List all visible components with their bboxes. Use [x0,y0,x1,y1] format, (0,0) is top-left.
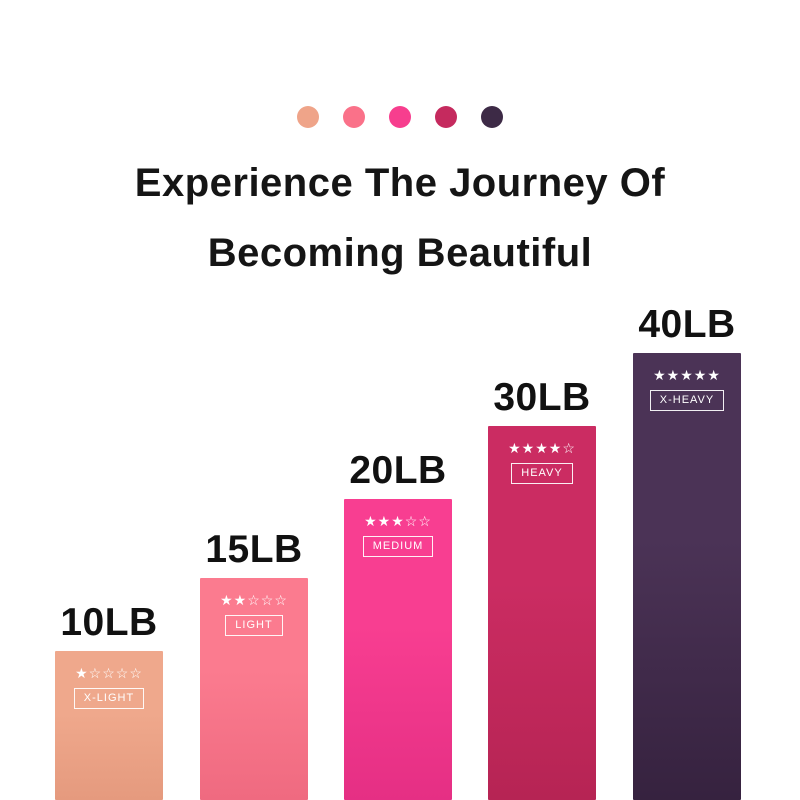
bar-group[interactable]: 15LB★★☆☆☆LIGHT [200,526,308,800]
bar-body[interactable]: ★★★★☆HEAVY [488,426,596,800]
bar-weight-label: 20LB [344,449,452,493]
star-rating-icon: ★★☆☆☆ [220,592,288,608]
bar-weight-label: 10LB [55,601,163,645]
bar-body[interactable]: ★★★☆☆MEDIUM [344,499,452,800]
bar-rating-block: ★★☆☆☆LIGHT [200,592,308,636]
bar-weight-label: 40LB [633,303,741,347]
bar-rating-block: ★★★☆☆MEDIUM [344,513,452,557]
bar-body[interactable]: ★★★★★X-HEAVY [633,353,741,800]
bar-group[interactable]: 40LB★★★★★X-HEAVY [633,301,741,800]
grade-badge: X-LIGHT [74,688,144,709]
bar-body[interactable]: ★★☆☆☆LIGHT [200,578,308,800]
star-rating-icon: ★☆☆☆☆ [75,665,143,681]
grade-badge: MEDIUM [363,536,434,557]
bar-weight-label: 15LB [200,528,308,572]
bar-weight-label: 30LB [488,376,596,420]
bar-group[interactable]: 30LB★★★★☆HEAVY [488,374,596,800]
bar-rating-block: ★★★★☆HEAVY [488,440,596,484]
grade-badge: X-HEAVY [650,390,724,411]
bar-rating-block: ★☆☆☆☆X-LIGHT [55,665,163,709]
bar-group[interactable]: 10LB★☆☆☆☆X-LIGHT [55,599,163,800]
bar-body[interactable]: ★☆☆☆☆X-LIGHT [55,651,163,800]
star-rating-icon: ★★★★★ [653,367,721,383]
resistance-band-bar-chart: 10LB★☆☆☆☆X-LIGHT15LB★★☆☆☆LIGHT20LB★★★☆☆M… [0,0,800,800]
grade-badge: LIGHT [225,615,282,636]
grade-badge: HEAVY [511,463,572,484]
bar-rating-block: ★★★★★X-HEAVY [633,367,741,411]
bar-group[interactable]: 20LB★★★☆☆MEDIUM [344,447,452,800]
star-rating-icon: ★★★★☆ [508,440,576,456]
star-rating-icon: ★★★☆☆ [364,513,432,529]
